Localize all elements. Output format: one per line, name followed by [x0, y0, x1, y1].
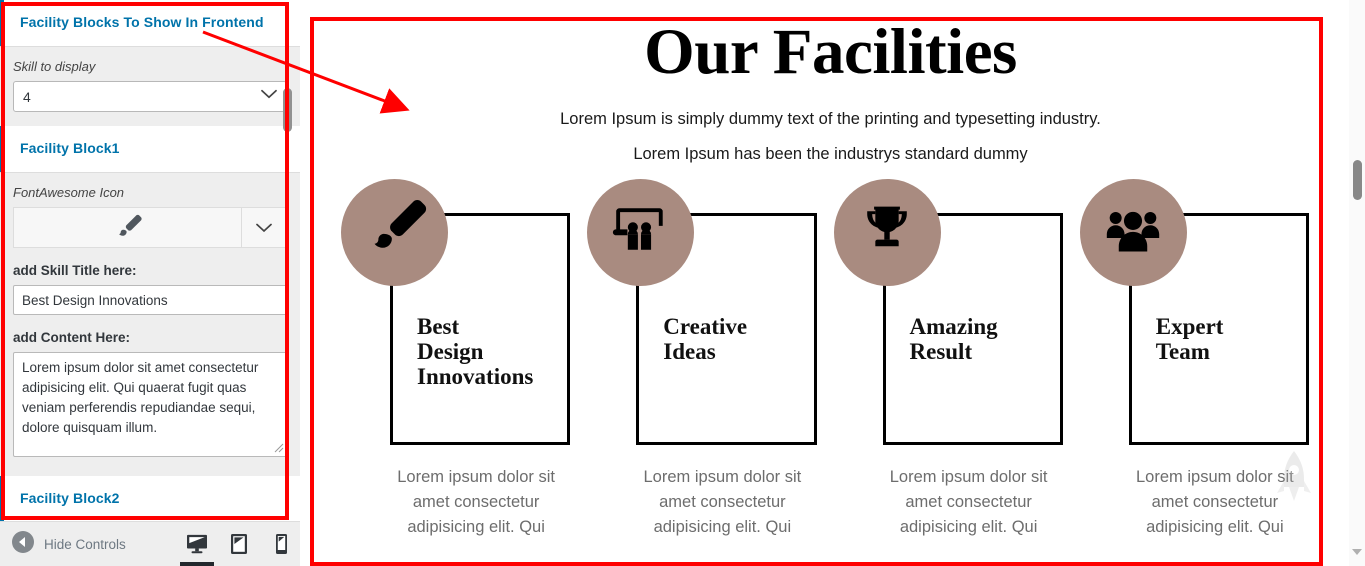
fontawesome-icon-label: FontAwesome Icon	[13, 185, 287, 200]
facility-card-title: Creative Ideas	[663, 314, 758, 364]
facility-block2-title: Facility Block2	[20, 490, 120, 506]
panel-title-header[interactable]: Facility Blocks To Show In Frontend	[0, 0, 300, 47]
skill-count-section: Skill to display 4	[0, 47, 300, 126]
facility-block1-body: FontAwesome Icon add Skill Title here: a…	[0, 173, 300, 476]
preview-frame: Our Facilities Lorem Ipsum is simply dum…	[300, 0, 1365, 566]
facility-card-desc: Lorem ipsum dolor sit amet consectetur a…	[338, 465, 584, 540]
facility-card-box: Expert Team	[1129, 213, 1309, 445]
scroll-to-top-rocket-icon[interactable]	[1277, 451, 1311, 508]
facility-card[interactable]: Creative Ideas Lorem ipsum dolor sit ame…	[584, 213, 830, 540]
content-textarea-wrap: Lorem ipsum dolor sit amet consectetur a…	[13, 352, 287, 462]
facility-card-desc: Lorem ipsum dolor sit amet consectetur a…	[831, 465, 1077, 540]
collapse-left-icon	[12, 531, 34, 558]
content-label: add Content Here:	[13, 330, 287, 345]
facility-card-icon-circle	[587, 179, 694, 286]
facility-card-title: Expert Team	[1156, 314, 1251, 364]
device-tablet-button[interactable]	[218, 521, 260, 566]
facility-card[interactable]: Best Design Innovations Lorem ipsum dolo…	[338, 213, 584, 540]
facility-block2-header[interactable]: Facility Block2	[0, 476, 300, 521]
hero-subtitle-line-1: Lorem Ipsum is simply dummy text of the …	[312, 108, 1349, 130]
scrollbar-down-arrow-icon[interactable]	[1351, 544, 1363, 562]
device-desktop-button[interactable]	[176, 521, 218, 566]
facility-card-title: Amazing Result	[910, 314, 1005, 364]
panel-title: Facility Blocks To Show In Frontend	[20, 14, 264, 30]
trophy-icon	[857, 200, 917, 265]
skill-count-select-wrap: 4	[13, 81, 287, 112]
customizer-footer: Hide Controls	[0, 521, 300, 566]
facility-card-icon-circle	[1080, 179, 1187, 286]
facilities-hero: Our Facilities Lorem Ipsum is simply dum…	[312, 0, 1349, 165]
facility-cards-row: Best Design Innovations Lorem ipsum dolo…	[312, 213, 1349, 540]
hide-controls-label: Hide Controls	[44, 537, 126, 552]
facilities-page: Our Facilities Lorem Ipsum is simply dum…	[312, 0, 1349, 566]
hero-subtitle-line-2: Lorem Ipsum has been the industrys stand…	[312, 143, 1349, 165]
paint-brush-icon	[363, 198, 427, 267]
customizer-scrollbar-thumb[interactable]	[283, 88, 292, 132]
skill-title-input[interactable]	[13, 285, 287, 315]
facility-card-title: Best Design Innovations	[417, 314, 512, 389]
skill-count-select[interactable]: 4	[13, 81, 287, 112]
device-mobile-button[interactable]	[260, 521, 300, 566]
skill-title-label: add Skill Title here:	[13, 263, 287, 278]
preview-scrollbar-track[interactable]	[1349, 0, 1365, 566]
preview-scrollbar-thumb[interactable]	[1353, 160, 1362, 200]
content-textarea[interactable]: Lorem ipsum dolor sit amet consectetur a…	[13, 352, 287, 457]
paint-brush-icon	[14, 208, 241, 247]
chalkboard-teacher-icon	[610, 199, 672, 266]
page-title: Our Facilities	[312, 18, 1349, 86]
hide-controls-button[interactable]: Hide Controls	[12, 531, 126, 558]
facility-card-box: Best Design Innovations	[390, 213, 570, 445]
customizer-scroll-area: Facility Blocks To Show In Frontend Skil…	[0, 0, 300, 521]
facility-card-box: Amazing Result	[883, 213, 1063, 445]
icon-picker-dropdown-toggle[interactable]	[241, 208, 286, 247]
users-icon	[1100, 199, 1166, 266]
facility-card-icon-circle	[834, 179, 941, 286]
fontawesome-icon-picker[interactable]	[13, 207, 287, 248]
customizer-panel: Facility Blocks To Show In Frontend Skil…	[0, 0, 300, 566]
facility-card-box: Creative Ideas	[636, 213, 816, 445]
skill-count-label: Skill to display	[13, 59, 287, 74]
facility-card-desc: Lorem ipsum dolor sit amet consectetur a…	[584, 465, 830, 540]
app-root: Facility Blocks To Show In Frontend Skil…	[0, 0, 1365, 566]
customizer-scrollbar-track[interactable]	[282, 0, 292, 521]
facility-block1-title: Facility Block1	[20, 140, 120, 156]
facility-block1-header[interactable]: Facility Block1	[0, 126, 300, 173]
facility-card-icon-circle	[341, 179, 448, 286]
facility-card[interactable]: Amazing Result Lorem ipsum dolor sit ame…	[831, 213, 1077, 540]
device-preview-buttons	[176, 521, 300, 566]
